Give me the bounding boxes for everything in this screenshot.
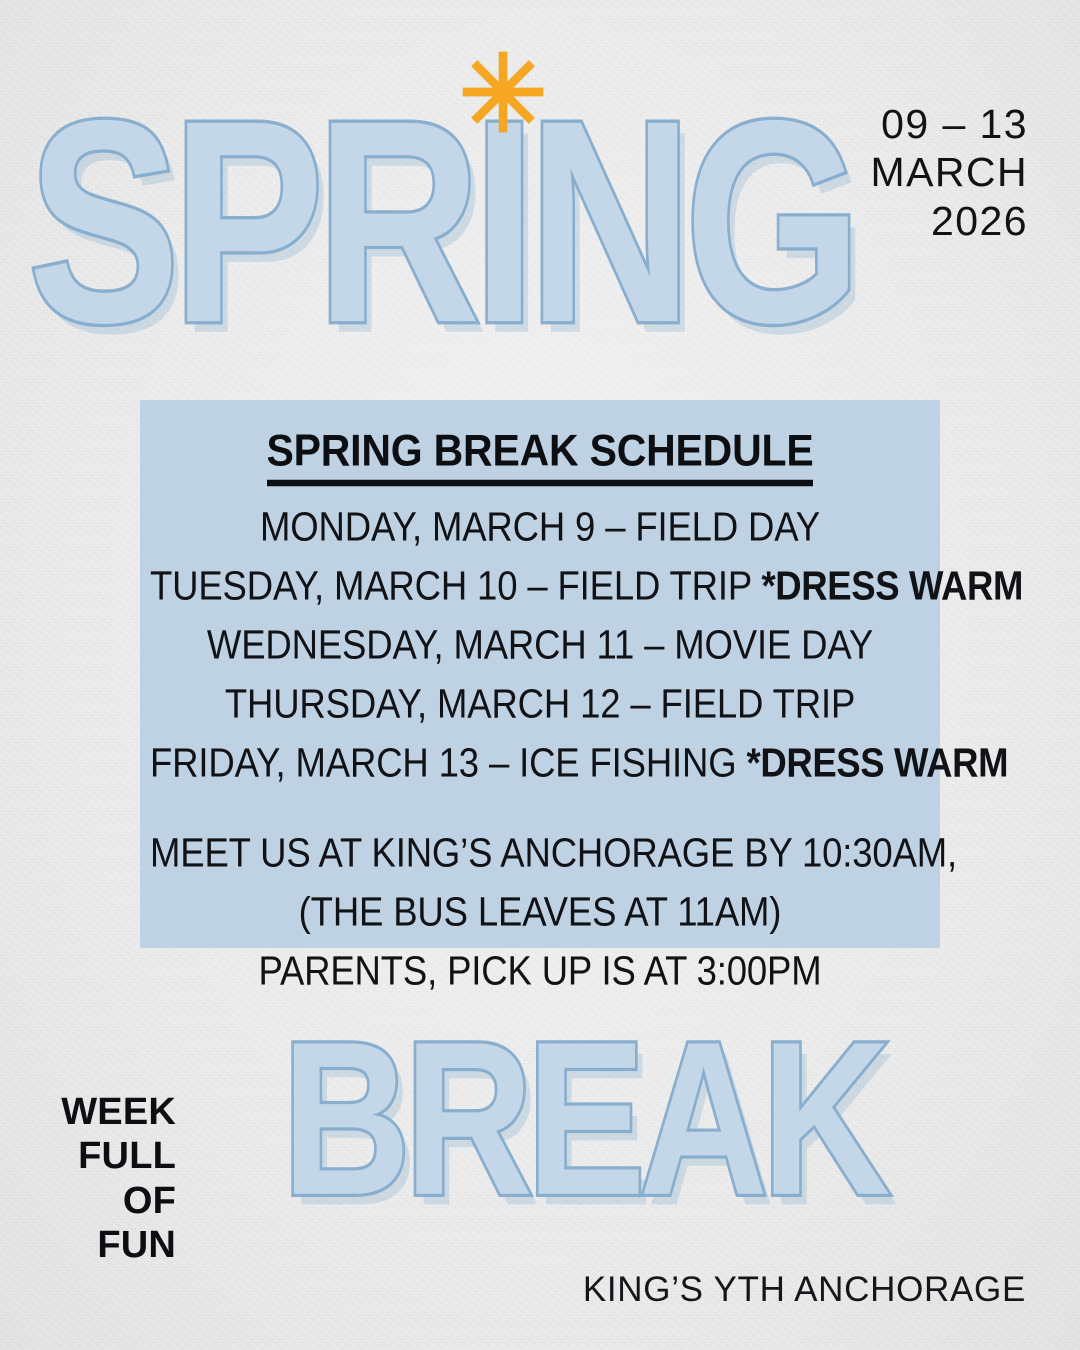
schedule-title: SPRING BREAK SCHEDULE bbox=[267, 426, 814, 486]
schedule-day-row: FRIDAY, MARCH 13 – ICE FISHING *DRESS WA… bbox=[150, 739, 930, 786]
schedule-day-row: THURSDAY, MARCH 12 – FIELD TRIP bbox=[150, 680, 930, 727]
schedule-day-text: FRIDAY, MARCH 13 – ICE FISHING bbox=[150, 739, 747, 785]
tagline-line-4: FUN bbox=[46, 1223, 176, 1267]
schedule-day-note: *DRESS WARM bbox=[747, 739, 1009, 785]
organization-footer: KING’S YTH ANCHORAGE bbox=[583, 1270, 1026, 1310]
schedule-day-row: TUESDAY, MARCH 10 – FIELD TRIP *DRESS WA… bbox=[150, 562, 930, 609]
logistics-line: MEET US AT KING’S ANCHORAGE BY 10:30AM, bbox=[150, 829, 930, 876]
spring-wordmark: SPRING bbox=[28, 104, 854, 340]
tagline-line-1: WEEK bbox=[46, 1090, 176, 1134]
schedule-day-text: WEDNESDAY, MARCH 11 – MOVIE DAY bbox=[207, 621, 873, 667]
asterisk-star-icon bbox=[455, 44, 551, 140]
date-month: MARCH bbox=[870, 148, 1028, 196]
schedule-day-note: *DRESS WARM bbox=[761, 562, 1023, 608]
schedule-day-list: MONDAY, MARCH 9 – FIELD DAY TUESDAY, MAR… bbox=[150, 506, 930, 784]
logistics-block: MEET US AT KING’S ANCHORAGE BY 10:30AM, … bbox=[150, 832, 930, 992]
tagline-block: WEEK FULL OF FUN bbox=[46, 1090, 176, 1268]
date-days: 09 – 13 bbox=[870, 100, 1028, 148]
schedule-day-row: WEDNESDAY, MARCH 11 – MOVIE DAY bbox=[150, 621, 930, 668]
schedule-day-text: TUESDAY, MARCH 10 – FIELD TRIP bbox=[150, 562, 761, 608]
date-year: 2026 bbox=[870, 197, 1028, 245]
logistics-line: (THE BUS LEAVES AT 11AM) bbox=[150, 888, 930, 935]
schedule-day-text: THURSDAY, MARCH 12 – FIELD TRIP bbox=[225, 680, 855, 726]
break-wordmark: BREAK bbox=[282, 1030, 884, 1209]
schedule-day-row: MONDAY, MARCH 9 – FIELD DAY bbox=[150, 503, 930, 550]
event-date-block: 09 – 13 MARCH 2026 bbox=[870, 100, 1028, 245]
tagline-line-3: OF bbox=[46, 1179, 176, 1223]
logistics-line: PARENTS, PICK UP IS AT 3:00PM bbox=[150, 947, 930, 994]
schedule-card: SPRING BREAK SCHEDULE MONDAY, MARCH 9 – … bbox=[140, 400, 940, 948]
schedule-day-text: MONDAY, MARCH 9 – FIELD DAY bbox=[260, 503, 820, 549]
tagline-line-2: FULL bbox=[46, 1134, 176, 1178]
poster-canvas: SPRING 09 – 13 MARCH 2026 SPRING BREAK S… bbox=[0, 0, 1080, 1350]
